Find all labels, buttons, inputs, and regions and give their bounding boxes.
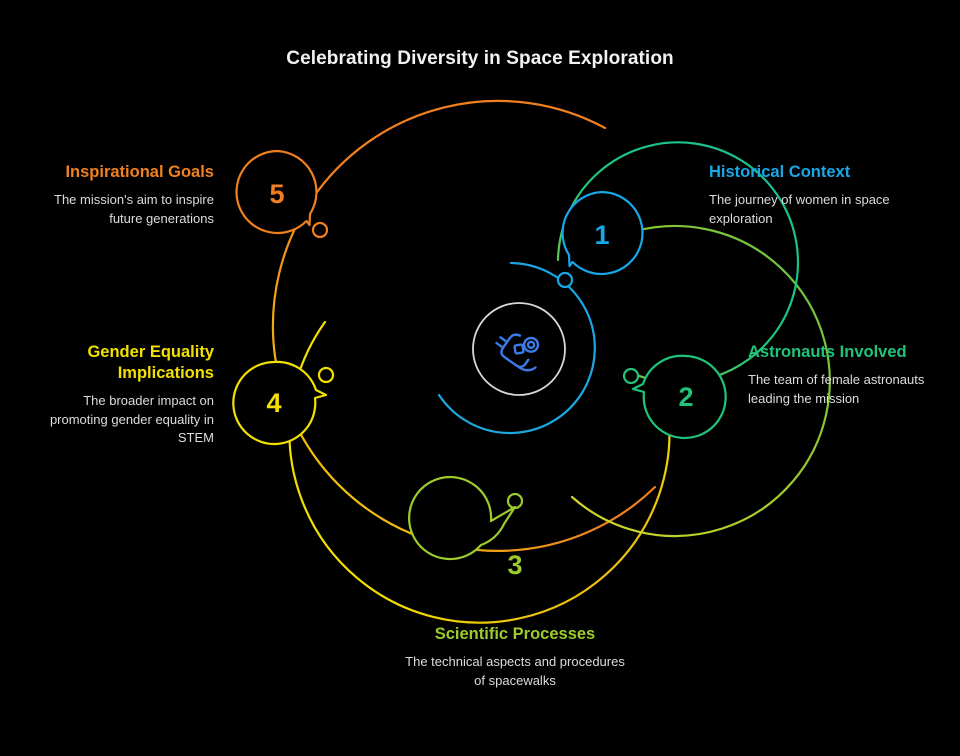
infographic-canvas: Celebrating Diversity in Space Explorati… [0, 0, 960, 756]
node-2-number: 2 [678, 382, 693, 412]
label-1-description: The journey of women in space exploratio… [709, 191, 914, 228]
label-gender-equality-implications: Gender Equality Implications The broader… [26, 342, 214, 448]
label-astronauts-involved: Astronauts Involved The team of female a… [748, 342, 938, 408]
label-4-title: Gender Equality Implications [26, 342, 214, 384]
label-3-description: The technical aspects and procedures of … [400, 653, 630, 690]
node-1[interactable]: 1 [563, 192, 643, 274]
label-3-title: Scientific Processes [400, 624, 630, 645]
node-3-number: 3 [507, 550, 522, 580]
label-scientific-processes: Scientific Processes The technical aspec… [400, 624, 630, 690]
node-1-number: 1 [594, 220, 609, 250]
node-4[interactable]: 4 [233, 362, 326, 444]
connector-ring-2 [624, 369, 638, 383]
node-5-number: 5 [269, 179, 284, 209]
label-1-title: Historical Context [709, 162, 914, 183]
label-5-title: Inspirational Goals [26, 162, 214, 183]
connector-ring-5 [313, 223, 327, 237]
node-3[interactable]: 3 [409, 477, 522, 580]
label-2-description: The team of female astronauts leading th… [748, 371, 938, 408]
label-5-description: The mission's aim to inspire future gene… [26, 191, 214, 228]
label-historical-context: Historical Context The journey of women … [709, 162, 914, 228]
label-inspirational-goals: Inspirational Goals The mission's aim to… [26, 162, 214, 228]
node-5[interactable]: 5 [237, 151, 317, 233]
center-ring [473, 303, 565, 395]
connector-ring-4 [319, 368, 333, 382]
center-hub [473, 303, 565, 395]
node-2[interactable]: 2 [633, 356, 726, 438]
node-3-bubble[interactable] [409, 477, 515, 559]
node-4-number: 4 [266, 388, 281, 418]
label-2-title: Astronauts Involved [748, 342, 938, 363]
label-4-description: The broader impact on promoting gender e… [26, 392, 214, 447]
connector-ring-1 [558, 273, 572, 287]
